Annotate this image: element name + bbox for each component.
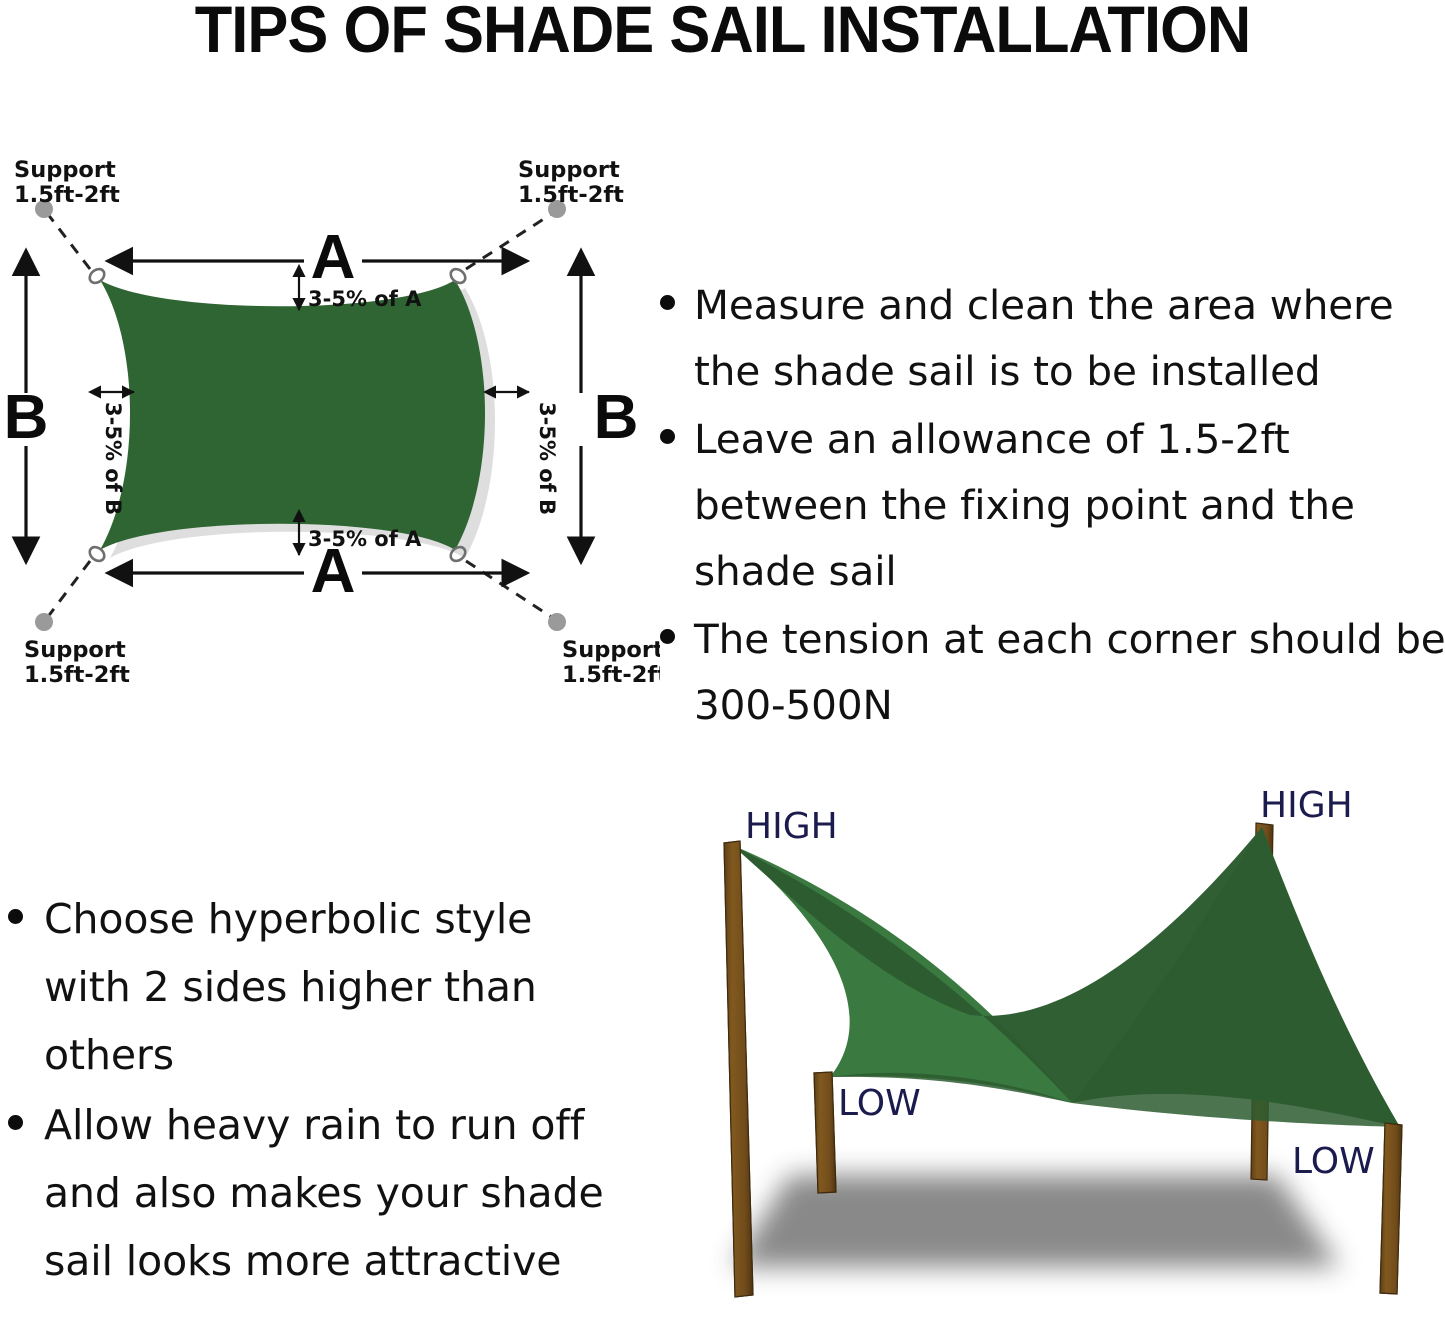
support-label-top-right-line2: 1.5ft-2ft (518, 182, 624, 208)
tip-text: Measure and clean the area where the sha… (694, 272, 1445, 404)
bullet-dot-icon (8, 1115, 23, 1130)
hyperbolic-tips-list: Choose hyperbolic style with 2 sides hig… (0, 885, 630, 1295)
bullet-dot-icon (8, 909, 23, 924)
curve-label-bottom: 3-5% of A (308, 527, 422, 551)
hyperbolic-sail-diagram-panel: HIGH HIGH LOW LOW (640, 775, 1445, 1319)
support-label-bottom-left-line1: Support (24, 637, 126, 663)
tie-line-top-left (47, 213, 90, 269)
installation-tips-list: Measure and clean the area where the sha… (648, 272, 1445, 738)
dimension-letter-b-left: B (4, 383, 49, 452)
curve-label-top: 3-5% of A (308, 287, 422, 311)
support-label-bottom-right-line1: Support (562, 637, 660, 663)
rectangular-sail-diagram: Support 1.5ft-2ft Support 1.5ft-2ft Supp… (0, 150, 660, 750)
label-low-left: LOW (838, 1083, 921, 1124)
list-item: Choose hyperbolic style with 2 sides hig… (0, 885, 630, 1089)
rectangular-sail-diagram-panel: Support 1.5ft-2ft Support 1.5ft-2ft Supp… (0, 150, 660, 750)
post-low-right-front (1380, 1123, 1402, 1294)
list-item: Leave an allowance of 1.5-2ft between th… (648, 406, 1445, 604)
installation-tips-panel: Measure and clean the area where the sha… (648, 272, 1445, 740)
list-item: The tension at each corner should be 300… (648, 606, 1445, 738)
hyperbolic-sail-diagram: HIGH HIGH LOW LOW (640, 775, 1445, 1319)
support-label-top-right-line1: Support (518, 157, 620, 183)
curve-label-right: 3-5% of B (535, 402, 559, 515)
support-label-bottom-right-line2: 1.5ft-2ft (562, 662, 660, 688)
support-dot-bottom-left (35, 613, 53, 631)
label-high-left: HIGH (745, 806, 838, 847)
dimension-letter-a-top: A (311, 223, 356, 292)
tie-line-bottom-right (466, 561, 553, 618)
post-low-left-front (814, 1072, 836, 1193)
hyperbolic-tips-panel: Choose hyperbolic style with 2 sides hig… (0, 885, 630, 1297)
title-bar: TIPS OF SHADE SAIL INSTALLATION (0, 0, 1445, 70)
curve-label-left: 3-5% of B (101, 402, 125, 515)
label-low-right: LOW (1292, 1141, 1375, 1182)
label-high-right: HIGH (1260, 785, 1353, 826)
tip-text: Choose hyperbolic style with 2 sides hig… (44, 885, 630, 1089)
tip-text: The tension at each corner should be 300… (694, 606, 1445, 738)
bullet-dot-icon (660, 295, 675, 310)
tie-line-bottom-left (47, 561, 90, 618)
bullet-dot-icon (660, 429, 675, 444)
dimension-letter-b-right: B (594, 383, 639, 452)
bullet-dot-icon (660, 629, 675, 644)
list-item: Measure and clean the area where the sha… (648, 272, 1445, 404)
support-label-bottom-left-line2: 1.5ft-2ft (24, 662, 130, 688)
shade-sail-fabric (100, 280, 485, 550)
list-item: Allow heavy rain to run off and also mak… (0, 1091, 630, 1295)
page-title: TIPS OF SHADE SAIL INSTALLATION (51, 0, 1395, 64)
post-high-left-front (724, 841, 753, 1297)
support-label-top-left-line2: 1.5ft-2ft (14, 182, 120, 208)
tip-text: Leave an allowance of 1.5-2ft between th… (694, 406, 1445, 604)
support-label-top-left-line1: Support (14, 157, 116, 183)
tip-text: Allow heavy rain to run off and also mak… (44, 1091, 630, 1295)
support-dot-bottom-right (548, 613, 566, 631)
